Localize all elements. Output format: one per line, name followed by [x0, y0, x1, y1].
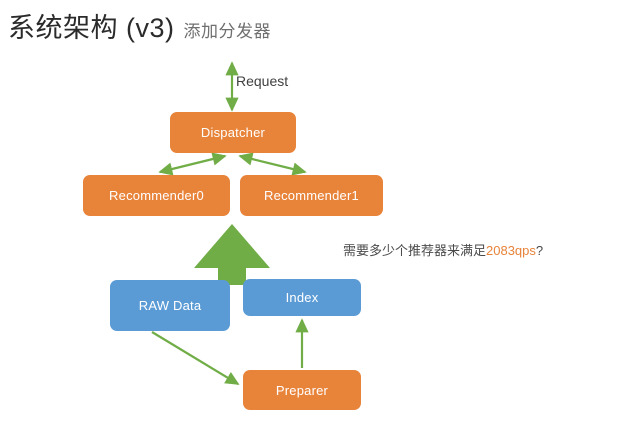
annotation-suffix: ? — [536, 243, 543, 258]
edge-rawdata-preparer — [152, 332, 238, 384]
node-recommender0-label: Recommender0 — [109, 188, 204, 203]
node-dispatcher[interactable]: Dispatcher — [170, 112, 296, 153]
title-row: 系统架构 (v3) 添加分发器 — [8, 6, 271, 45]
annotation-prefix: 需要多少个推荐器来满足 — [343, 243, 486, 258]
annotation-question: 需要多少个推荐器来满足2083qps? — [343, 240, 543, 259]
edge-dispatcher-recommender1 — [240, 156, 305, 172]
page-title: 系统架构 (v3) — [8, 6, 175, 45]
node-dispatcher-label: Dispatcher — [201, 125, 265, 140]
edge-label-request: Request — [236, 73, 288, 89]
node-recommender1-label: Recommender1 — [264, 188, 359, 203]
node-preparer-label: Preparer — [276, 383, 328, 398]
diagram-canvas: 系统架构 (v3) 添加分发器 Request Dispatcher Recom… — [0, 0, 640, 424]
node-preparer[interactable]: Preparer — [243, 370, 361, 410]
node-recommender0[interactable]: Recommender0 — [83, 175, 230, 216]
edge-bulk-up-arrow — [194, 224, 270, 285]
page-subtitle: 添加分发器 — [184, 17, 272, 42]
node-index-label: Index — [286, 290, 319, 305]
annotation-highlight-qps: 2083qps — [486, 243, 536, 258]
edge-dispatcher-recommender0 — [160, 156, 225, 172]
node-raw-data[interactable]: RAW Data — [110, 280, 230, 331]
node-recommender1[interactable]: Recommender1 — [240, 175, 383, 216]
node-raw-data-label: RAW Data — [139, 298, 202, 313]
node-index[interactable]: Index — [243, 279, 361, 316]
